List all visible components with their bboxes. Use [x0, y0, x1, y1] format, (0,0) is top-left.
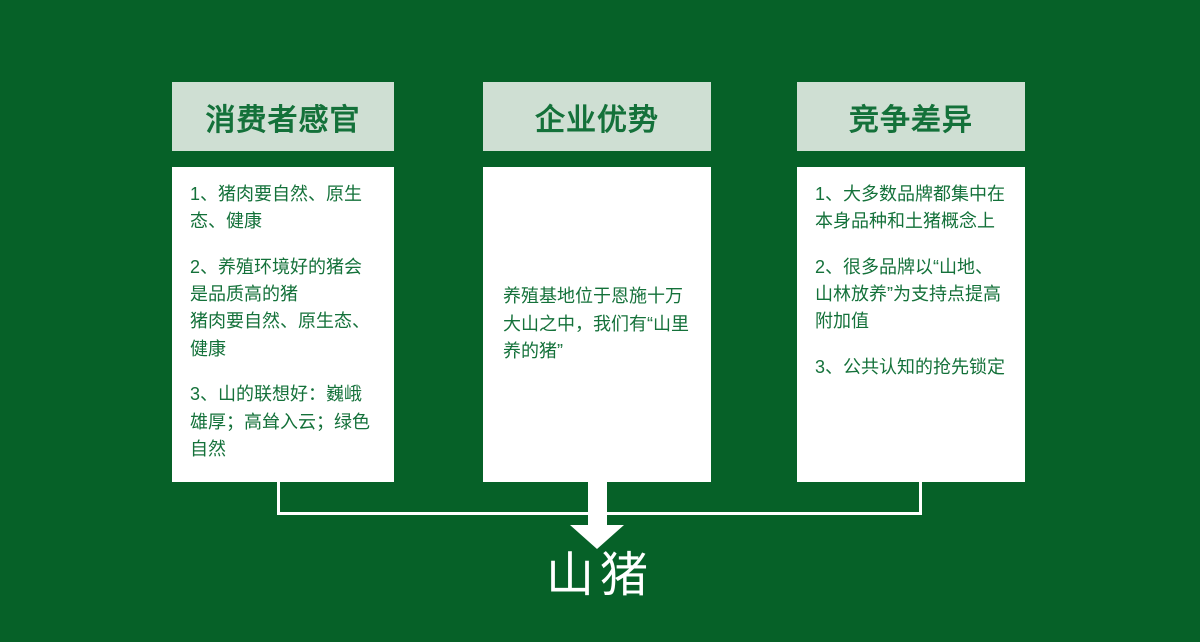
down-arrow-shaft — [588, 482, 607, 527]
connector-line-right — [919, 482, 922, 515]
conclusion-label: 山猪 — [0, 535, 1200, 605]
column-header-company-advantage: 企业优势 — [483, 82, 711, 151]
column-header-label: 企业优势 — [535, 95, 659, 139]
list-item: 1、猪肉要自然、原生态、健康 — [190, 181, 376, 236]
column-header-competitive-difference: 竞争差异 — [797, 82, 1025, 151]
list-item: 养殖基地位于恩施十万大山之中，我们有“山里养的猪” — [503, 283, 691, 365]
column-body-competitive-difference: 1、大多数品牌都集中在本身品种和土猪概念上 2、很多品牌以“山地、山林放养”为支… — [797, 167, 1025, 482]
diagram-canvas: 消费者感官 企业优势 竞争差异 1、猪肉要自然、原生态、健康 2、养殖环境好的猪… — [0, 0, 1200, 642]
column-header-label: 竞争差异 — [849, 95, 973, 139]
column-body-consumer-senses: 1、猪肉要自然、原生态、健康 2、养殖环境好的猪会是品质高的猪 猪肉要自然、原生… — [172, 167, 394, 482]
list-item: 2、养殖环境好的猪会是品质高的猪 猪肉要自然、原生态、健康 — [190, 254, 376, 363]
list-item: 1、大多数品牌都集中在本身品种和土猪概念上 — [815, 181, 1007, 236]
list-item: 2、很多品牌以“山地、山林放养”为支持点提高附加值 — [815, 254, 1007, 336]
column-body-company-advantage: 养殖基地位于恩施十万大山之中，我们有“山里养的猪” — [483, 167, 711, 482]
connector-line-left — [277, 482, 280, 515]
column-header-consumer-senses: 消费者感官 — [172, 82, 394, 151]
column-header-label: 消费者感官 — [206, 95, 361, 139]
list-item: 3、公共认知的抢先锁定 — [815, 354, 1007, 381]
list-item: 3、山的联想好：巍峨雄厚；高耸入云；绿色自然 — [190, 381, 376, 463]
